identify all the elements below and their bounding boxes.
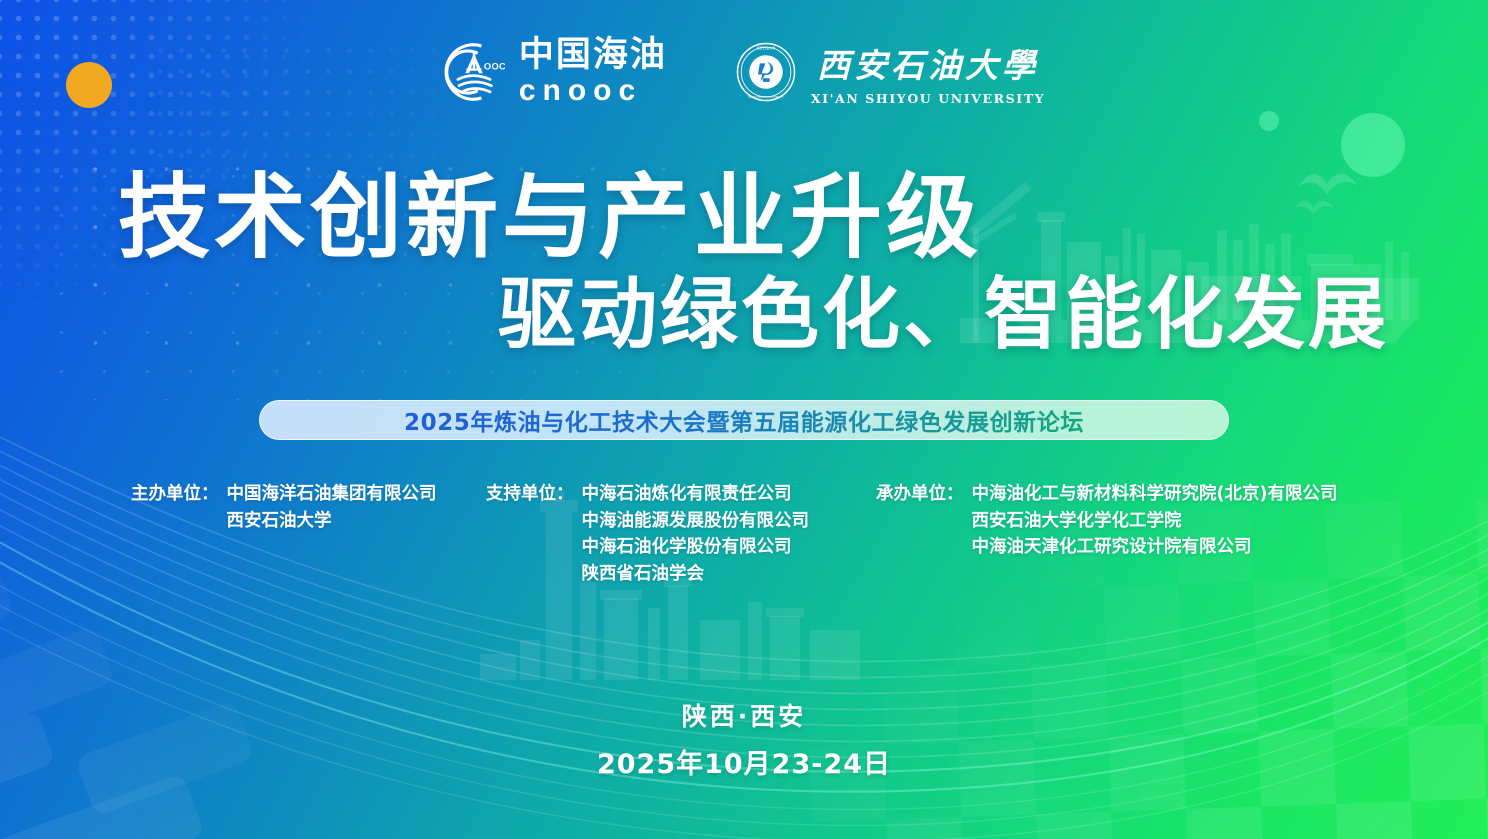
- organizer-name: 西安石油大学化学化工学院: [972, 508, 1338, 535]
- organizer-name: 中海油能源发展股份有限公司: [582, 508, 810, 535]
- organizer-name: 西安石油大学: [227, 508, 437, 535]
- organizer-column-host: 主办单位： 中国海洋石油集团有限公司 西安石油大学: [131, 481, 437, 534]
- subtitle-banner: 2025年炼油与化工技术大会暨第五届能源化工绿色发展创新论坛: [259, 400, 1229, 440]
- event-date: 2025年10月23-24日: [597, 742, 891, 781]
- sponsor-logos: OOC 中国海油 cnooc 西安石油大学 XI'AN SHIYOU UNI: [0, 38, 1488, 106]
- xsyu-cn-name: 西安石油大學: [817, 39, 1039, 87]
- organizer-names: 中国海洋石油集团有限公司 西安石油大学: [227, 481, 437, 534]
- organizer-name: 陕西省石油学会: [582, 561, 810, 588]
- xian-shiyou-university-logo: 西安石油大学 XI'AN SHIYOU UNIVERSITY 西安石油大學 XI…: [735, 39, 1045, 106]
- organizer-name: 中海油化工与新材料科学研究院(北京)有限公司: [972, 481, 1338, 508]
- subtitle-text: 2025年炼油与化工技术大会暨第五届能源化工绿色发展创新论坛: [404, 403, 1084, 437]
- svg-text:OOC: OOC: [484, 62, 505, 72]
- organizer-list: 主办单位： 中国海洋石油集团有限公司 西安石油大学 支持单位： 中海石油炼化有限…: [0, 481, 1488, 601]
- poster-title: 技术创新与产业升级 驱动绿色化、智能化发展: [0, 168, 1488, 359]
- cnooc-logo-icon: OOC: [443, 41, 505, 103]
- organizer-name: 中海石油化学股份有限公司: [582, 534, 810, 561]
- organizer-name: 中海油天津化工研究设计院有限公司: [972, 534, 1338, 561]
- event-location: 陕西·西安: [682, 697, 807, 733]
- svg-text:XI'AN SHIYOU UNIVERSITY: XI'AN SHIYOU UNIVERSITY: [748, 96, 783, 99]
- title-line-2: 驱动绿色化、智能化发展: [0, 273, 1488, 359]
- organizer-column-support: 支持单位： 中海石油炼化有限责任公司 中海油能源发展股份有限公司 中海石油化学股…: [486, 481, 809, 587]
- svg-text:西安石油大学: 西安石油大学: [757, 45, 776, 50]
- poster-footer: 陕西·西安 2025年10月23-24日: [0, 697, 1488, 781]
- organizer-names: 中海油化工与新材料科学研究院(北京)有限公司 西安石油大学化学化工学院 中海油天…: [972, 481, 1338, 561]
- organizer-label: 承办单位：: [876, 481, 964, 508]
- organizer-column-undertaker: 承办单位： 中海油化工与新材料科学研究院(北京)有限公司 西安石油大学化学化工学…: [876, 481, 1338, 561]
- organizer-label: 主办单位：: [131, 481, 219, 508]
- cnooc-cn-name: 中国海油: [519, 38, 667, 73]
- green-circle-small-icon: [1259, 111, 1279, 131]
- organizer-names: 中海石油炼化有限责任公司 中海油能源发展股份有限公司 中海石油化学股份有限公司 …: [582, 481, 810, 587]
- organizer-name: 中国海洋石油集团有限公司: [227, 481, 437, 508]
- cnooc-en-name: cnooc: [519, 76, 667, 106]
- organizer-name: 中海石油炼化有限责任公司: [582, 481, 810, 508]
- xsyu-en-name: XI'AN SHIYOU UNIVERSITY: [811, 91, 1045, 106]
- xian-shiyou-university-logo-icon: 西安石油大学 XI'AN SHIYOU UNIVERSITY: [735, 41, 797, 103]
- organizer-label: 支持单位：: [486, 481, 574, 508]
- title-line-1: 技术创新与产业升级: [0, 168, 1488, 267]
- conference-poster: OOC 中国海油 cnooc 西安石油大学 XI'AN SHIYOU UNI: [0, 0, 1488, 839]
- cnooc-logo: OOC 中国海油 cnooc: [443, 38, 667, 106]
